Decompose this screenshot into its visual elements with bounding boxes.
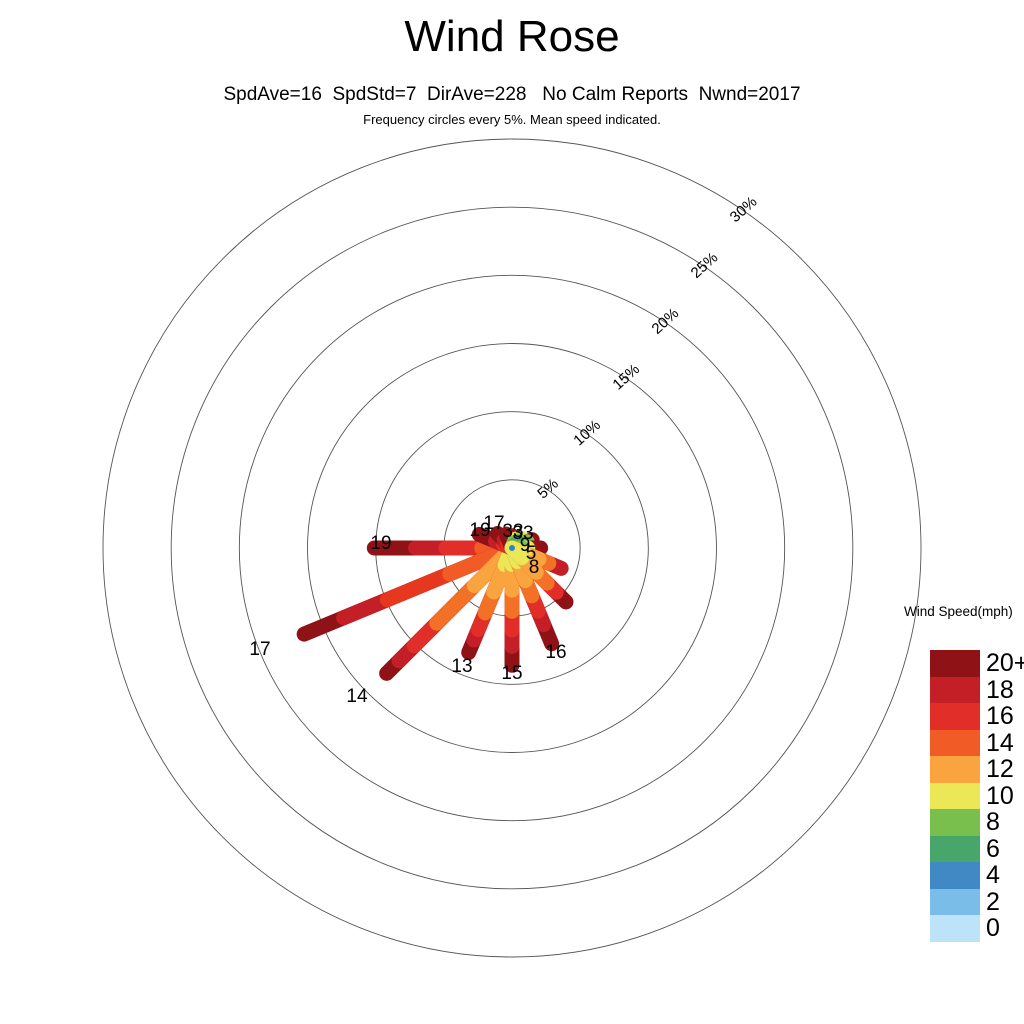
petal-speed-label: 16 — [545, 642, 566, 663]
legend-row[interactable]: 20+ — [930, 650, 980, 677]
legend-row[interactable]: 18 — [930, 677, 980, 704]
legend-label: 12 — [986, 756, 1014, 783]
wind-speed-legend: 20+181614121086420 — [930, 650, 980, 942]
ring-label: 20% — [649, 305, 683, 338]
petal-speed-label: 13 — [451, 656, 472, 677]
legend-label: 0 — [986, 915, 1000, 942]
legend-color-swatch — [930, 756, 980, 783]
legend-color-swatch — [930, 730, 980, 757]
legend-row[interactable]: 10 — [930, 783, 980, 810]
legend-label: 4 — [986, 862, 1000, 889]
wind-rose-plot: 5%10%15%20%25%30% 1919173333958171413151… — [0, 0, 1024, 1024]
legend-row[interactable]: 14 — [930, 730, 980, 757]
ring-label: 10% — [570, 417, 604, 450]
petal-speed-label: 17 — [249, 639, 270, 660]
legend-label: 8 — [986, 809, 1000, 836]
wind-rose-page: Wind Rose SpdAve=16 SpdStd=7 DirAve=228 … — [0, 0, 1024, 1024]
legend-title: Wind Speed(mph) — [904, 604, 1013, 619]
petal-speed-label: 15 — [501, 663, 522, 684]
legend-row[interactable]: 8 — [930, 809, 980, 836]
legend-label: 10 — [986, 783, 1014, 810]
legend-label: 2 — [986, 889, 1000, 916]
ring-label: 15% — [609, 361, 643, 394]
legend-row[interactable]: 6 — [930, 836, 980, 863]
ring-label: 5% — [534, 475, 561, 502]
legend-color-swatch — [930, 889, 980, 916]
legend-color-swatch — [930, 836, 980, 863]
legend-label: 20+ — [986, 650, 1024, 677]
ring-label: 30% — [727, 193, 761, 226]
legend-row[interactable]: 2 — [930, 889, 980, 916]
petal-speed-label: 8 — [529, 557, 540, 578]
legend-row[interactable]: 4 — [930, 862, 980, 889]
legend-row[interactable]: 16 — [930, 703, 980, 730]
legend-row[interactable]: 12 — [930, 756, 980, 783]
legend-label: 14 — [986, 730, 1014, 757]
legend-label: 18 — [986, 677, 1014, 704]
legend-label: 6 — [986, 836, 1000, 863]
ring-labels: 5%10%15%20%25%30% — [534, 193, 760, 502]
legend-color-swatch — [930, 783, 980, 810]
legend-color-swatch — [930, 809, 980, 836]
legend-color-swatch — [930, 862, 980, 889]
legend-color-swatch — [930, 915, 980, 942]
center-dot — [509, 545, 515, 551]
legend-row[interactable]: 0 — [930, 915, 980, 942]
legend-label: 16 — [986, 703, 1014, 730]
legend-color-swatch — [930, 650, 980, 677]
center-marker — [509, 545, 515, 551]
petal-speed-label: 14 — [346, 686, 368, 707]
legend-color-swatch — [930, 703, 980, 730]
petal-speed-label: 17 — [483, 513, 504, 534]
ring-label: 25% — [688, 249, 722, 282]
petal-speed-label: 19 — [370, 533, 391, 554]
legend-color-swatch — [930, 677, 980, 704]
